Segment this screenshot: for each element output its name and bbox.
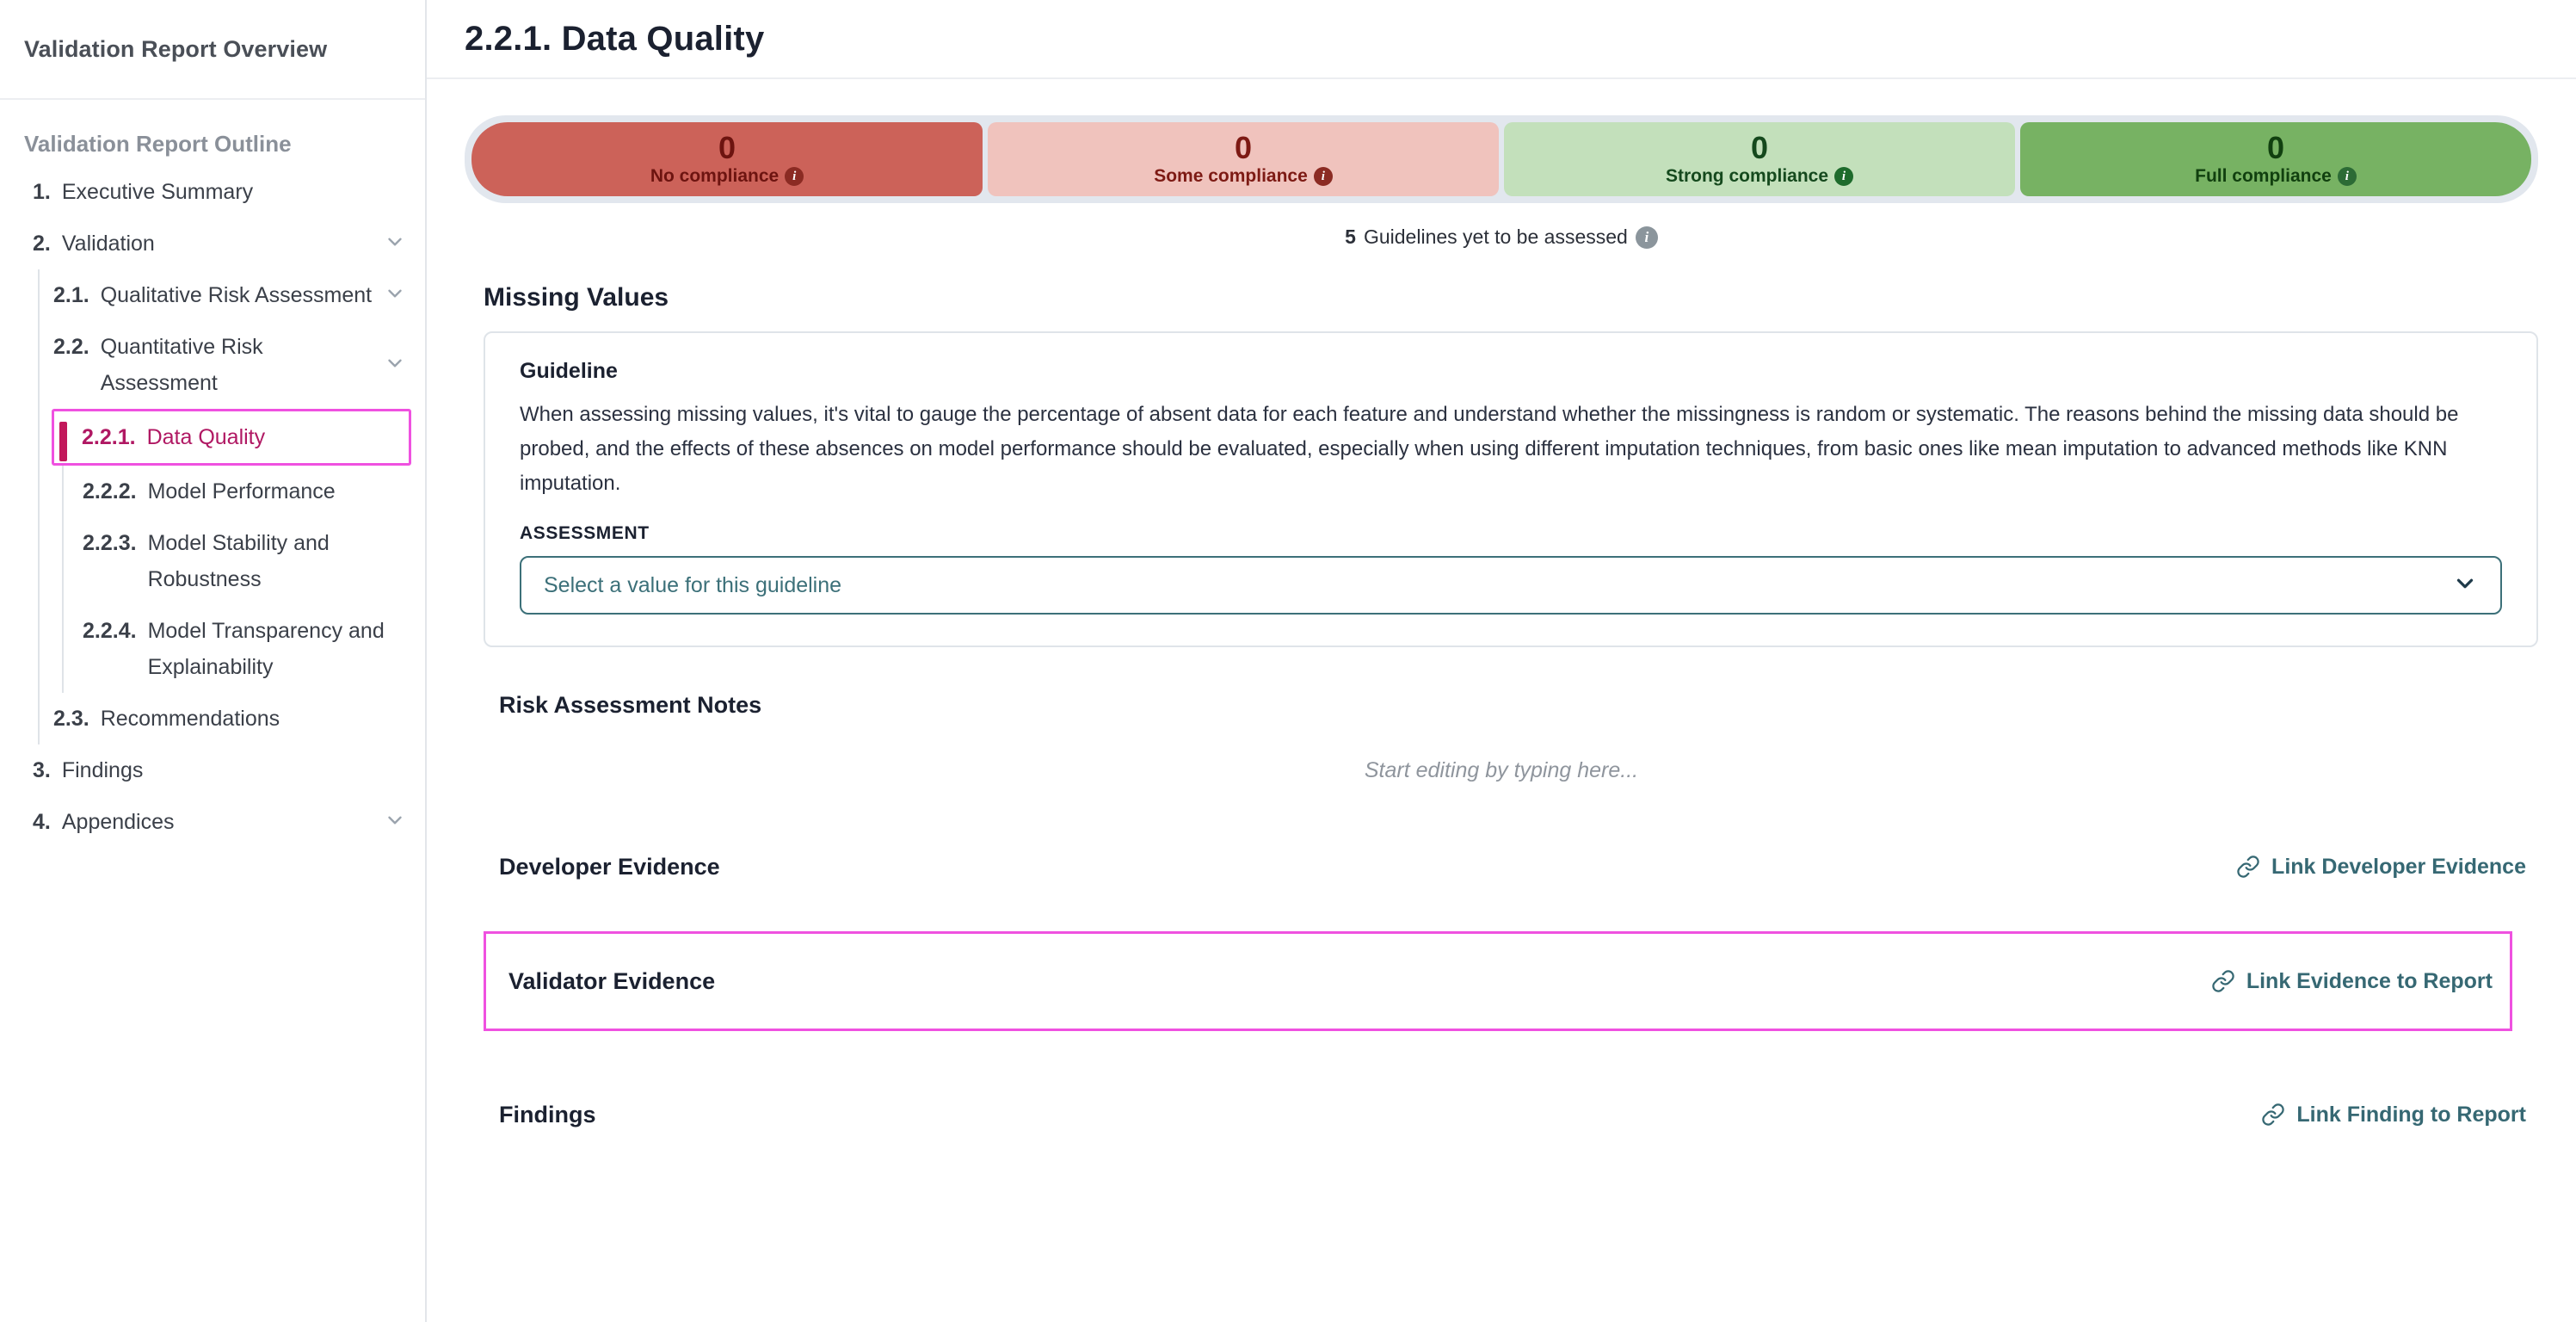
sidebar-item-data-quality[interactable]: 2.2.1. Data Quality	[52, 409, 411, 466]
info-icon[interactable]: i	[1636, 226, 1658, 249]
link-developer-evidence-label: Link Developer Evidence	[2271, 855, 2526, 880]
item-label: Appendices	[62, 804, 175, 840]
compliance-bar: 0 No compliance i 0 Some compliance i	[465, 115, 2538, 203]
item-label: Qualitative Risk Assessment	[101, 277, 372, 313]
assessment-label: ASSESSMENT	[520, 523, 2502, 544]
sidebar: Validation Report Overview Validation Re…	[0, 0, 427, 1322]
assessment-select-placeholder: Select a value for this guideline	[544, 573, 841, 598]
validator-evidence-row: Validator Evidence Link Evidence to Repo…	[508, 949, 2493, 1013]
item-number: 2.2.2.	[83, 473, 137, 510]
compliance-segment-full-compliance[interactable]: 0 Full compliance i	[2020, 122, 2531, 196]
outline-nav: 1. Executive Summary 2. Validation 2.1. …	[0, 166, 425, 848]
findings-row: Findings Link Finding to Report	[499, 1083, 2526, 1146]
item-label: Model Stability and Robustness	[148, 525, 406, 597]
sidebar-item-qualitative-risk-assessment[interactable]: 2.1. Qualitative Risk Assessment	[40, 269, 406, 321]
sidebar-title: Validation Report Overview	[24, 36, 327, 63]
segment-label-row: Full compliance i	[2195, 165, 2357, 188]
segment-label: Strong compliance	[1666, 165, 1828, 188]
developer-evidence-title: Developer Evidence	[499, 854, 720, 880]
item-number: 2.2.3.	[83, 525, 137, 561]
info-icon[interactable]: i	[2338, 167, 2357, 186]
link-finding-to-report-label: Link Finding to Report	[2296, 1103, 2526, 1127]
main-content: 2.2.1. Data Quality 0 No compliance i 0	[427, 0, 2576, 1322]
segment-count: 0	[2267, 131, 2284, 165]
chevron-down-icon[interactable]	[384, 282, 406, 305]
chevron-down-icon[interactable]	[384, 809, 406, 831]
guideline-text: When assessing missing values, it's vita…	[520, 398, 2502, 501]
sidebar-item-appendices[interactable]: 4. Appendices	[24, 796, 406, 848]
item-content: 2.2.1. Data Quality	[59, 419, 265, 455]
active-indicator-bar	[59, 422, 67, 461]
segment-label-row: No compliance i	[650, 165, 804, 188]
quantitative-children: 2.2.2. Model Performance 2.2.3. Model St…	[62, 466, 406, 693]
notes-editor[interactable]: Start editing by typing here...	[465, 758, 2538, 783]
item-number: 2.1.	[53, 277, 89, 313]
developer-evidence-row: Developer Evidence Link Developer Eviden…	[499, 835, 2526, 899]
info-icon[interactable]: i	[1314, 167, 1333, 186]
item-number: 2.2.4.	[83, 613, 137, 649]
compliance-summary: 0 No compliance i 0 Some compliance i	[465, 79, 2538, 249]
item-number: 4.	[33, 804, 51, 840]
link-evidence-to-report-label: Link Evidence to Report	[2246, 969, 2493, 994]
item-label: Executive Summary	[62, 174, 253, 210]
item-number: 2.2.1.	[82, 419, 136, 455]
link-icon	[2236, 855, 2260, 879]
chevron-down-icon[interactable]	[384, 231, 406, 253]
pending-count: 5	[1345, 225, 1356, 249]
chevron-down-icon[interactable]	[2452, 571, 2478, 601]
segment-label: Some compliance	[1154, 165, 1308, 188]
main-body: 0 No compliance i 0 Some compliance i	[427, 79, 2576, 1146]
item-label: Validation	[62, 225, 155, 262]
sidebar-header: Validation Report Overview	[0, 0, 425, 100]
segment-label-row: Some compliance i	[1154, 165, 1333, 188]
link-finding-to-report-button[interactable]: Link Finding to Report	[2261, 1103, 2526, 1127]
sidebar-item-model-performance[interactable]: 2.2.2. Model Performance	[64, 466, 406, 517]
segment-count: 0	[1751, 131, 1768, 165]
link-evidence-to-report-button[interactable]: Link Evidence to Report	[2211, 969, 2493, 994]
sidebar-item-validation[interactable]: 2. Validation	[24, 218, 406, 269]
segment-label-row: Strong compliance i	[1666, 165, 1853, 188]
segment-count: 0	[718, 131, 736, 165]
app-root: Validation Report Overview Validation Re…	[0, 0, 2576, 1322]
item-label: Data Quality	[147, 419, 266, 455]
sidebar-item-model-stability-and-robustness[interactable]: 2.2.3. Model Stability and Robustness	[64, 517, 406, 605]
assessment-select[interactable]: Select a value for this guideline	[520, 556, 2502, 615]
compliance-segment-some-compliance[interactable]: 0 Some compliance i	[988, 122, 1499, 196]
pending-text: Guidelines yet to be assessed	[1364, 225, 1628, 249]
guideline-label: Guideline	[520, 359, 2502, 384]
sidebar-item-findings[interactable]: 3. Findings	[24, 744, 406, 796]
chevron-down-icon[interactable]	[384, 352, 406, 374]
sidebar-item-recommendations[interactable]: 2.3. Recommendations	[40, 693, 406, 744]
validator-evidence-title: Validator Evidence	[508, 968, 715, 995]
item-number: 1.	[33, 174, 51, 210]
item-label: Model Performance	[148, 473, 336, 510]
item-number: 2.3.	[53, 701, 89, 737]
item-label: Model Transparency and Explainability	[148, 613, 406, 685]
link-developer-evidence-button[interactable]: Link Developer Evidence	[2236, 855, 2526, 880]
item-label: Findings	[62, 752, 144, 788]
info-icon[interactable]: i	[785, 167, 804, 186]
validator-evidence-highlight: Validator Evidence Link Evidence to Repo…	[484, 931, 2512, 1031]
validation-children: 2.1. Qualitative Risk Assessment 2.2. Qu…	[38, 269, 406, 744]
link-icon	[2211, 969, 2235, 993]
sidebar-item-quantitative-risk-assessment[interactable]: 2.2. Quantitative Risk Assessment	[40, 321, 406, 409]
risk-assessment-notes-title: Risk Assessment Notes	[499, 692, 2538, 719]
pending-guidelines-line: 5 Guidelines yet to be assessed i	[465, 225, 2538, 249]
item-label: Recommendations	[101, 701, 280, 737]
segment-label: Full compliance	[2195, 165, 2332, 188]
item-number: 2.2.	[53, 329, 89, 365]
outline-label: Validation Report Outline	[0, 100, 425, 166]
findings-title: Findings	[499, 1102, 595, 1128]
link-icon	[2261, 1103, 2285, 1127]
item-label: Quantitative Risk Assessment	[101, 329, 384, 401]
main-header: 2.2.1. Data Quality	[427, 0, 2576, 79]
sidebar-item-model-transparency-and-explainability[interactable]: 2.2.4. Model Transparency and Explainabi…	[64, 605, 406, 693]
info-icon[interactable]: i	[1834, 167, 1853, 186]
segment-label: No compliance	[650, 165, 779, 188]
compliance-segment-strong-compliance[interactable]: 0 Strong compliance i	[1504, 122, 2015, 196]
section-title: Missing Values	[484, 283, 2538, 312]
item-number: 2.	[33, 225, 51, 262]
guideline-card: Guideline When assessing missing values,…	[484, 331, 2538, 647]
item-number: 3.	[33, 752, 51, 788]
sidebar-item-executive-summary[interactable]: 1. Executive Summary	[24, 166, 406, 218]
compliance-segment-no-compliance[interactable]: 0 No compliance i	[471, 122, 983, 196]
segment-count: 0	[1235, 131, 1252, 165]
page-title: 2.2.1. Data Quality	[465, 20, 764, 59]
